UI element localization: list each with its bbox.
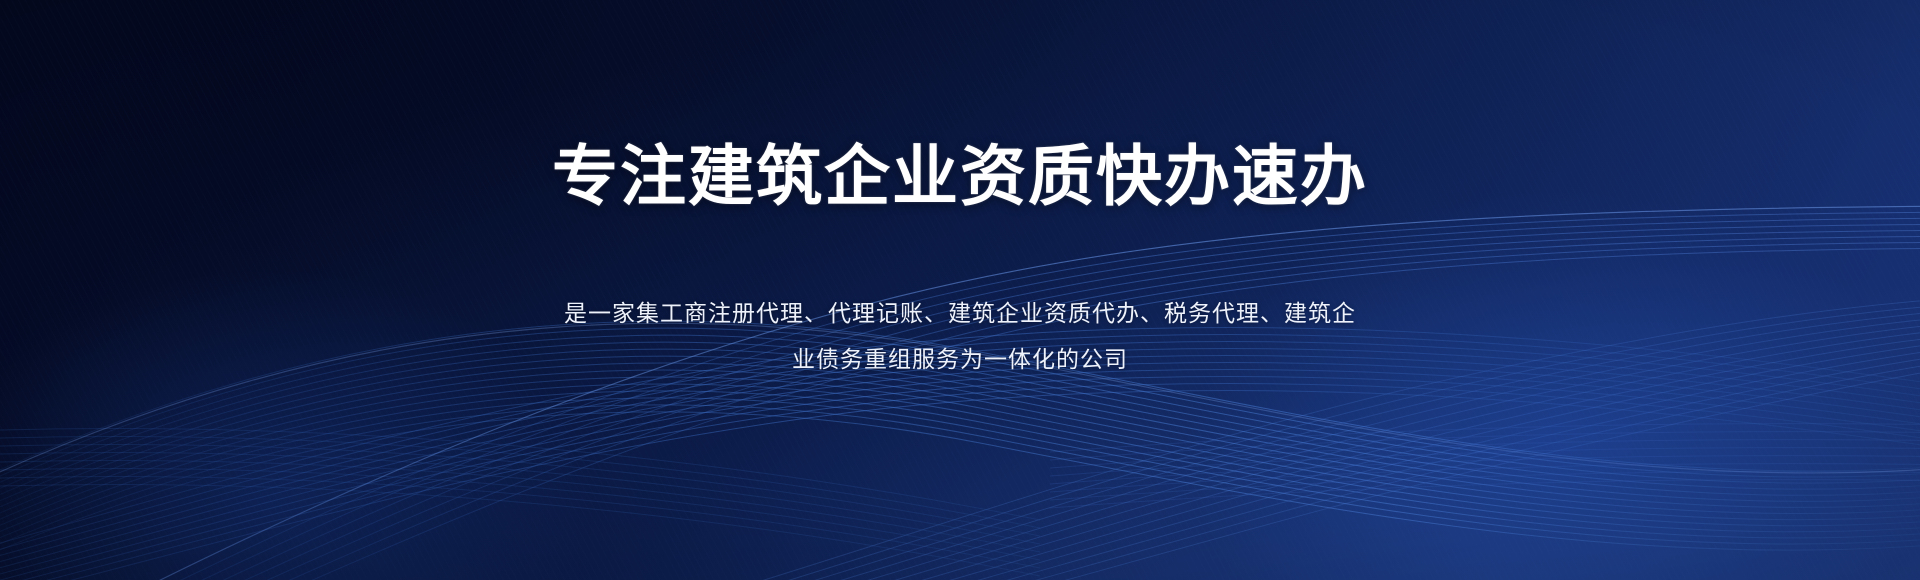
banner-subtitle-line-1: 是一家集工商注册代理、代理记账、建筑企业资质代办、税务代理、建筑企 [515, 290, 1405, 336]
banner-subtitle-line-2: 业债务重组服务为一体化的公司 [515, 336, 1405, 382]
banner-subtitle: 是一家集工商注册代理、代理记账、建筑企业资质代办、税务代理、建筑企 业债务重组服… [515, 290, 1405, 382]
banner-content: 专注建筑企业资质快办速办 是一家集工商注册代理、代理记账、建筑企业资质代办、税务… [0, 0, 1920, 580]
banner-headline: 专注建筑企业资质快办速办 [552, 142, 1368, 211]
hero-banner: 专注建筑企业资质快办速办 是一家集工商注册代理、代理记账、建筑企业资质代办、税务… [0, 0, 1920, 580]
